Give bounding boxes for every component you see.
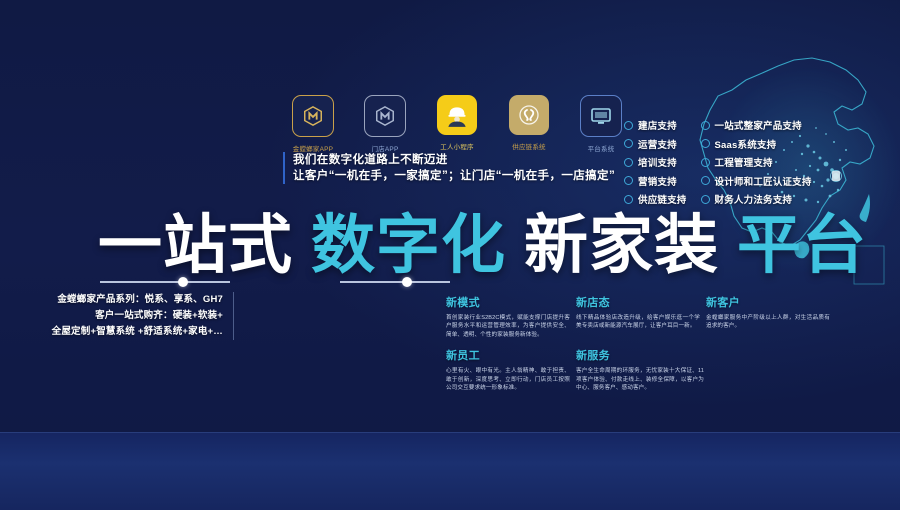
support-item: 培训支持 — [624, 155, 687, 169]
slogan-line-2: 让客户“一机在手，一家搞定”；让门店“一机在手，一店搞定” — [293, 168, 615, 184]
ring-bullet-icon — [624, 139, 633, 148]
poster-canvas: 金螳螂家APP 门店APP 工人小程序 — [0, 0, 900, 510]
support-item-label: 设计师和工匠认证支持 — [715, 174, 812, 188]
ring-bullet-icon — [701, 158, 710, 167]
support-item-label: 建店支持 — [638, 118, 677, 132]
icon-cell-mendian-app[interactable]: 门店APP — [362, 95, 408, 153]
pingtai-system-icon[interactable] — [580, 95, 622, 137]
icon-cell-jinlangtangjia-app[interactable]: 金螳螂家APP — [290, 95, 336, 153]
product-line-1: 金螳螂家产品系列：悦系、享系、GH7 — [18, 292, 223, 308]
icon-cell-gongren-miniprogram[interactable]: 工人小程序 — [434, 95, 480, 151]
support-item: 供应链支持 — [624, 192, 687, 206]
feature-row-top: 新模式 首创家装行业S2B2C模式，赋能支撑门店提升客户服务水平和运营管理效率，… — [446, 294, 876, 347]
support-item-label: 一站式整家产品支持 — [715, 118, 802, 132]
support-item-label: 供应链支持 — [638, 192, 687, 206]
feature-title: 新员工 — [446, 347, 570, 363]
support-column-left: 建店支持 运营支持 培训支持 营销支持 供应链支持 — [624, 118, 687, 206]
headline-word-3: 新家装 — [524, 212, 719, 280]
support-item-label: 工程管理支持 — [715, 155, 773, 169]
feature-new-model: 新模式 首创家装行业S2B2C模式，赋能支撑门店提升客户服务水平和运营管理效率，… — [446, 294, 570, 339]
support-item-label: 营销支持 — [638, 174, 677, 188]
support-item: Saas系统支持 — [701, 137, 812, 151]
support-item-label: Saas系统支持 — [715, 137, 777, 151]
underline-bar — [100, 281, 230, 283]
headline-word-4: 平台 — [737, 212, 867, 280]
feature-new-service: 新服务 客户全生命周期的环服务，无忧家装十大保证、11项客户体验、付款走线上、装… — [576, 347, 704, 392]
mendian-app-icon[interactable] — [364, 95, 406, 137]
headline-word-1: 一站式 — [98, 212, 293, 280]
feature-title: 新服务 — [576, 347, 704, 363]
feature-new-store: 新店态 线下精品体验店改造升级，给客户娱乐逛一个学美专卖店或新能源汽车展厅，让客… — [576, 294, 700, 339]
product-icon-row: 金螳螂家APP 门店APP 工人小程序 — [290, 95, 624, 153]
ring-bullet-icon — [701, 176, 710, 185]
support-item: 营销支持 — [624, 174, 687, 188]
support-item: 运营支持 — [624, 137, 687, 151]
feature-body: 心里有火、眼中有光。主人翁精神、敢于担责、敢于创新，深度思考、立即行动，门店员工… — [446, 367, 570, 392]
feature-title: 新客户 — [706, 294, 830, 310]
ring-bullet-icon — [701, 139, 710, 148]
feature-row-bottom: 新员工 心里有火、眼中有光。主人翁精神、敢于担责、敢于创新，深度思考、立即行动，… — [446, 347, 876, 400]
support-item-label: 培训支持 — [638, 155, 677, 169]
support-lists: 建店支持 运营支持 培训支持 营销支持 供应链支持 一站式整家产品支 — [624, 118, 812, 206]
feature-body: 金螳螂家服务中产阶级以上人群，对生活品质有追求的客户。 — [706, 314, 830, 331]
underline-knob — [402, 277, 412, 287]
ring-bullet-icon — [624, 176, 633, 185]
feature-blocks: 新模式 首创家装行业S2B2C模式，赋能支撑门店提升客户服务水平和运营管理效率，… — [446, 294, 876, 400]
slogan-block: 我们在数字化道路上不断迈进 让客户“一机在手，一家搞定”；让门店“一机在手，一店… — [283, 152, 615, 184]
support-item-label: 运营支持 — [638, 137, 677, 151]
underline-knob — [178, 277, 188, 287]
product-series-block: 金螳螂家产品系列：悦系、享系、GH7 客户一站式购齐：硬装+软装+ 全屋定制+智… — [18, 292, 234, 340]
support-item: 工程管理支持 — [701, 155, 812, 169]
feature-body: 线下精品体验店改造升级，给客户娱乐逛一个学美专卖店或新能源汽车展厅，让客户耳目一… — [576, 314, 700, 331]
headline-word-2: 数字化 — [311, 212, 506, 280]
icon-cell-gongyinglian-system[interactable]: 供应链系统 — [506, 95, 552, 151]
icon-label-gongren-miniprogram: 工人小程序 — [434, 141, 480, 151]
support-item: 一站式整家产品支持 — [701, 118, 812, 132]
gongyinglian-system-icon[interactable] — [509, 95, 549, 135]
product-line-2: 客户一站式购齐：硬装+软装+ — [18, 308, 223, 324]
feature-new-staff: 新员工 心里有火、眼中有光。主人翁精神、敢于担责、敢于创新，深度思考、立即行动，… — [446, 347, 570, 392]
jinlangtangjia-app-icon[interactable] — [292, 95, 334, 137]
ring-bullet-icon — [701, 195, 710, 204]
icon-label-gongyinglian-system: 供应链系统 — [506, 141, 552, 151]
feature-body: 首创家装行业S2B2C模式，赋能支撑门店提升客户服务水平和运营管理效率，为客户提… — [446, 314, 570, 339]
support-item: 财务人力法务支持 — [701, 192, 812, 206]
main-headline: 一站式 数字化 新家装 平台 — [98, 212, 867, 280]
ring-bullet-icon — [624, 121, 633, 130]
support-item-label: 财务人力法务支持 — [715, 192, 793, 206]
icon-cell-pingtai-system[interactable]: 平台系统 — [578, 95, 624, 153]
bottom-color-band — [0, 432, 900, 510]
ring-bullet-icon — [624, 158, 633, 167]
feature-body: 客户全生命周期的环服务，无忧家装十大保证、11项客户体验、付款走线上、装修全保障… — [576, 367, 704, 392]
feature-title: 新模式 — [446, 294, 570, 310]
feature-new-customer: 新客户 金螳螂家服务中产阶级以上人群，对生活品质有追求的客户。 — [706, 294, 830, 339]
slogan-line-1: 我们在数字化道路上不断迈进 — [293, 152, 615, 168]
headline-underline-right — [340, 277, 450, 287]
ring-bullet-icon — [701, 121, 710, 130]
support-item: 设计师和工匠认证支持 — [701, 174, 812, 188]
gongren-miniprogram-icon[interactable] — [437, 95, 477, 135]
feature-title: 新店态 — [576, 294, 700, 310]
headline-underline-left — [100, 277, 230, 287]
product-line-3: 全屋定制+智慧系统 +舒适系统+家电+… — [18, 324, 223, 340]
support-item: 建店支持 — [624, 118, 687, 132]
support-column-right: 一站式整家产品支持 Saas系统支持 工程管理支持 设计师和工匠认证支持 财务人… — [701, 118, 812, 206]
underline-bar — [340, 281, 450, 283]
ring-bullet-icon — [624, 195, 633, 204]
